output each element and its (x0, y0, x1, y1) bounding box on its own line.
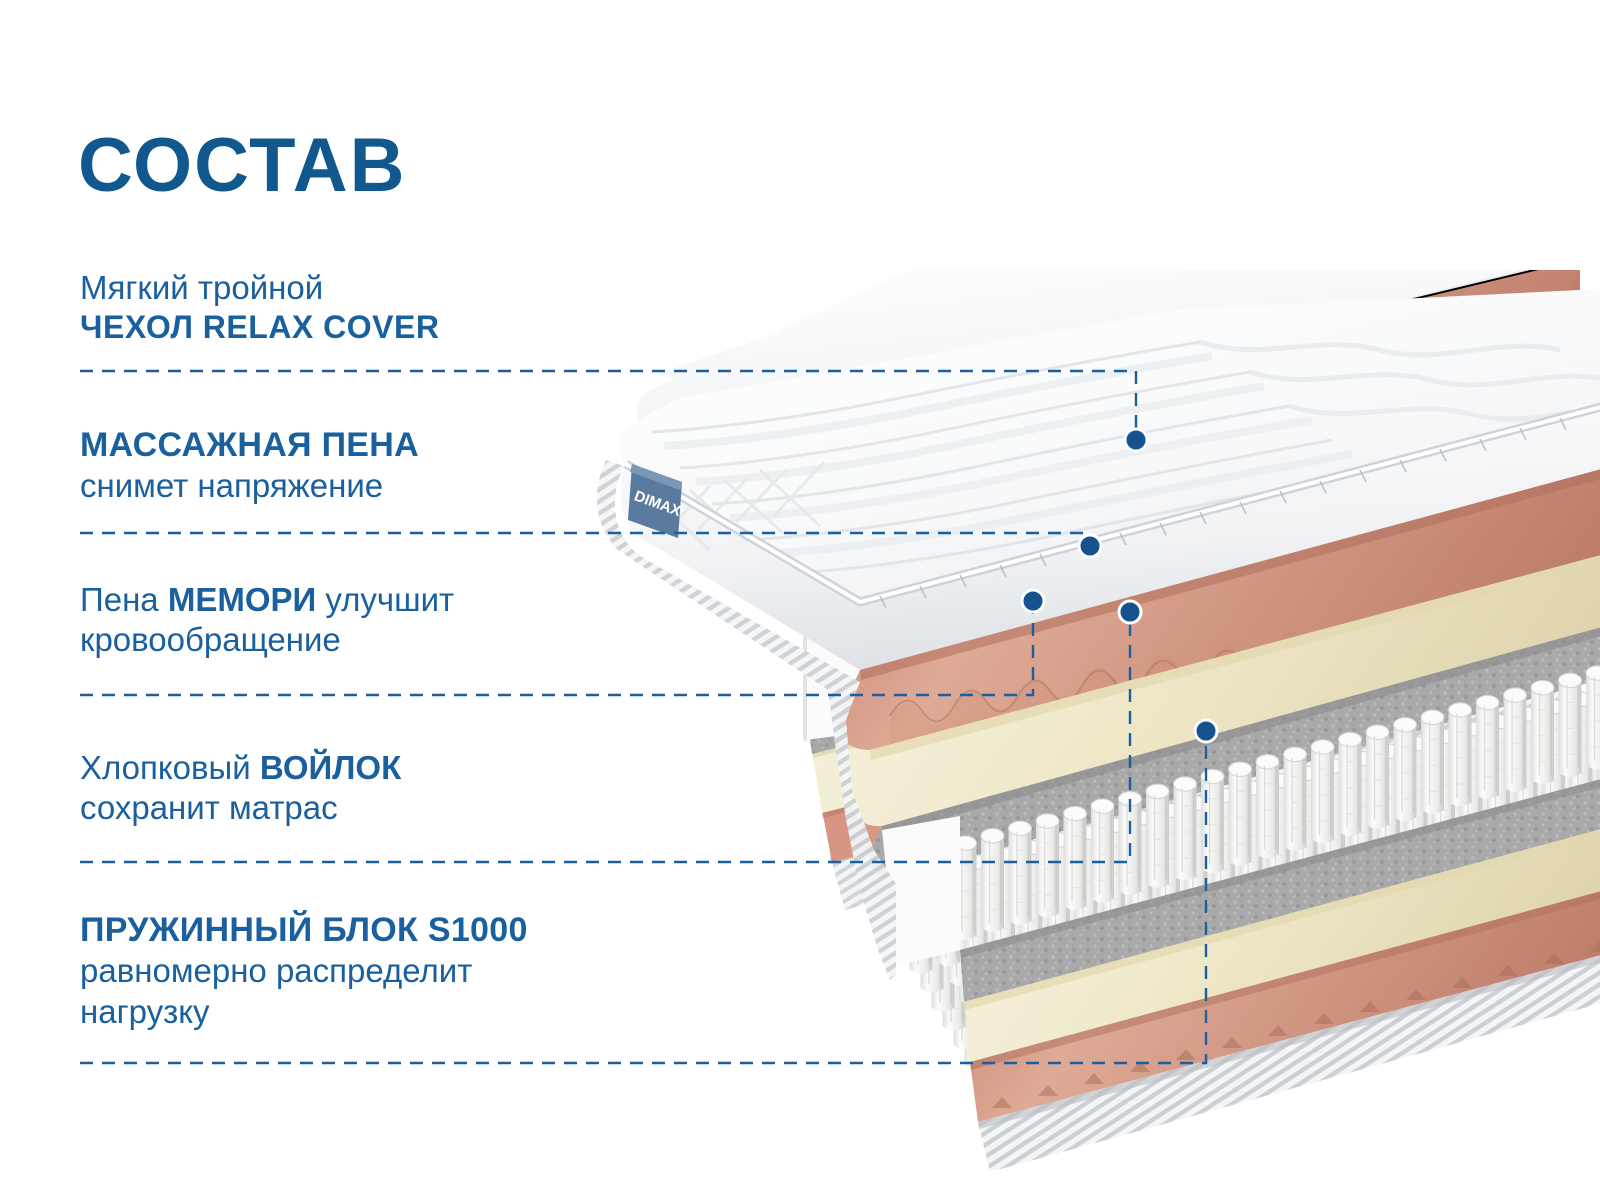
pocket-spring (1559, 673, 1582, 777)
pocket-spring (1366, 725, 1389, 829)
pocket-spring (1449, 703, 1472, 807)
callout-1-line-1: Мягкий тройной (80, 268, 439, 308)
pocket-spring (1421, 710, 1444, 814)
pocket-spring (1256, 755, 1279, 859)
pocket-spring (1394, 718, 1417, 822)
callout-massage-foam: МАССАЖНАЯ ПЕНА снимет напряжение (80, 425, 419, 507)
callout-2-line-1: МАССАЖНАЯ ПЕНА (80, 425, 419, 466)
pocket-spring (1091, 799, 1114, 903)
callout-relax-cover: Мягкий тройной ЧЕХОЛ RELAX COVER (80, 268, 439, 347)
infographic-canvas: СОСТАВ (0, 0, 1600, 1200)
pocket-spring (981, 829, 1004, 933)
callout-cotton-felt: Хлопковый ВОЙЛОК сохранит матрас (80, 748, 401, 829)
callout-3-bold: МЕМОРИ (168, 581, 316, 618)
callout-3-line-1: Пена МЕМОРИ улучшит (80, 580, 454, 620)
callout-1-line-2: ЧЕХОЛ RELAX COVER (80, 308, 439, 347)
callout-3-line-2: кровообращение (80, 620, 454, 660)
pocket-spring (1311, 740, 1334, 844)
pocket-spring (1201, 769, 1224, 873)
callout-5-line-2: равномерно распределит (80, 951, 528, 991)
pocket-spring (1146, 784, 1169, 888)
page-title: СОСТАВ (78, 128, 407, 204)
pocket-spring (1476, 695, 1499, 799)
callout-2-line-2: снимет напряжение (80, 466, 419, 506)
pocket-spring (1119, 792, 1142, 896)
pocket-spring (1036, 814, 1059, 918)
pocket-spring (1531, 681, 1554, 785)
pocket-spring (1339, 732, 1362, 836)
callout-spring-block: ПРУЖИННЫЙ БЛОК S1000 равномерно распреде… (80, 910, 528, 1032)
pocket-spring (1229, 762, 1252, 866)
callout-4-line-1: Хлопковый ВОЙЛОК (80, 748, 401, 788)
pocket-spring (1504, 688, 1527, 792)
callout-5-line-3: нагрузку (80, 992, 528, 1032)
mattress-body: DIMAX (560, 250, 1600, 1170)
callout-4-pre: Хлопковый (80, 749, 260, 786)
pocket-spring (1009, 821, 1032, 925)
pocket-spring (1064, 806, 1087, 910)
callout-4-bold: ВОЙЛОК (260, 749, 401, 786)
callout-memory-foam: Пена МЕМОРИ улучшит кровообращение (80, 580, 454, 661)
pocket-spring (1586, 666, 1600, 770)
pocket-spring (1174, 777, 1197, 881)
pocket-spring (1284, 747, 1307, 851)
callout-5-line-1: ПРУЖИННЫЙ БЛОК S1000 (80, 910, 528, 951)
callout-3-pre: Пена (80, 581, 168, 618)
callout-4-line-2: сохранит матрас (80, 788, 401, 828)
callout-3-post: улучшит (316, 581, 454, 618)
